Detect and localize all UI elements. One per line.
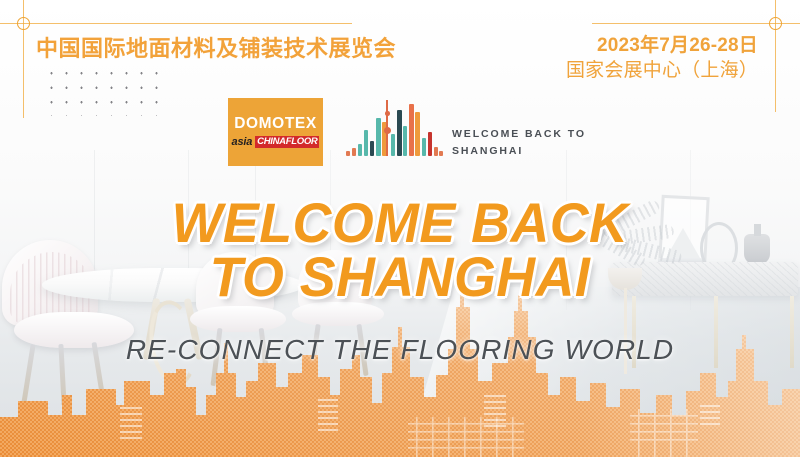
event-date: 2023年7月26-28日: [566, 33, 758, 58]
shanghai-waveform-skyline-icon: [346, 100, 442, 168]
logo-wordmark: DOMOTEX: [234, 116, 317, 132]
waveform-bar: [428, 132, 432, 156]
promo-banner: 中国国际地面材料及铺装技术展览会 2023年7月26-28日 国家会展中心（上海…: [0, 0, 800, 457]
tower-sphere-large: [384, 127, 391, 134]
tower-sphere-small: [385, 111, 390, 116]
exhibition-chinese-title: 中国国际地面材料及铺装技术展览会: [36, 31, 396, 63]
headline-line-2: TO SHANGHAI: [16, 250, 784, 304]
waveform-bar: [352, 148, 356, 156]
logo-region-asia: asia: [232, 136, 253, 148]
waveform-bar: [376, 118, 381, 156]
date-venue-block: 2023年7月26-28日 国家会展中心（上海）: [566, 33, 758, 83]
tower-spire: [387, 100, 388, 109]
registration-crosshair-top-left: [17, 17, 30, 30]
event-venue: 国家会展中心（上海）: [566, 58, 758, 83]
waveform-bar: [364, 130, 368, 156]
domotex-logo[interactable]: DOMOTEX asia CHINAFLOOR: [228, 98, 323, 166]
logo-tagline: WELCOME BACK TO SHANGHAI: [452, 126, 586, 161]
waveform-bar: [415, 112, 420, 156]
logo-subline: asia CHINAFLOOR: [232, 136, 320, 148]
decorative-dot-grid: [44, 66, 168, 116]
waveform-bar: [346, 151, 350, 156]
waveform-bar: [358, 144, 362, 156]
waveform-bar: [409, 104, 414, 156]
waveform-bar: [439, 151, 443, 156]
hero-subheadline: RE-CONNECT THE FLOORING WORLD: [0, 334, 800, 366]
hero-headline: WELCOME BACK TO SHANGHAI: [16, 196, 784, 305]
waveform-bar: [370, 141, 374, 156]
waveform-bar: [391, 134, 395, 156]
logo-tagline-line2: SHANGHAI: [452, 143, 586, 160]
waveform-bar: [397, 110, 402, 156]
registration-crosshair-top-right: [769, 17, 782, 30]
logo-tagline-line1: WELCOME BACK TO: [452, 126, 586, 143]
registration-line-horizontal-left: [0, 23, 352, 24]
waveform-bar: [434, 147, 438, 156]
waveform-bar: [403, 126, 407, 156]
waveform-bar: [422, 138, 426, 156]
logo-brand-chinafloor: CHINAFLOOR: [255, 136, 319, 148]
